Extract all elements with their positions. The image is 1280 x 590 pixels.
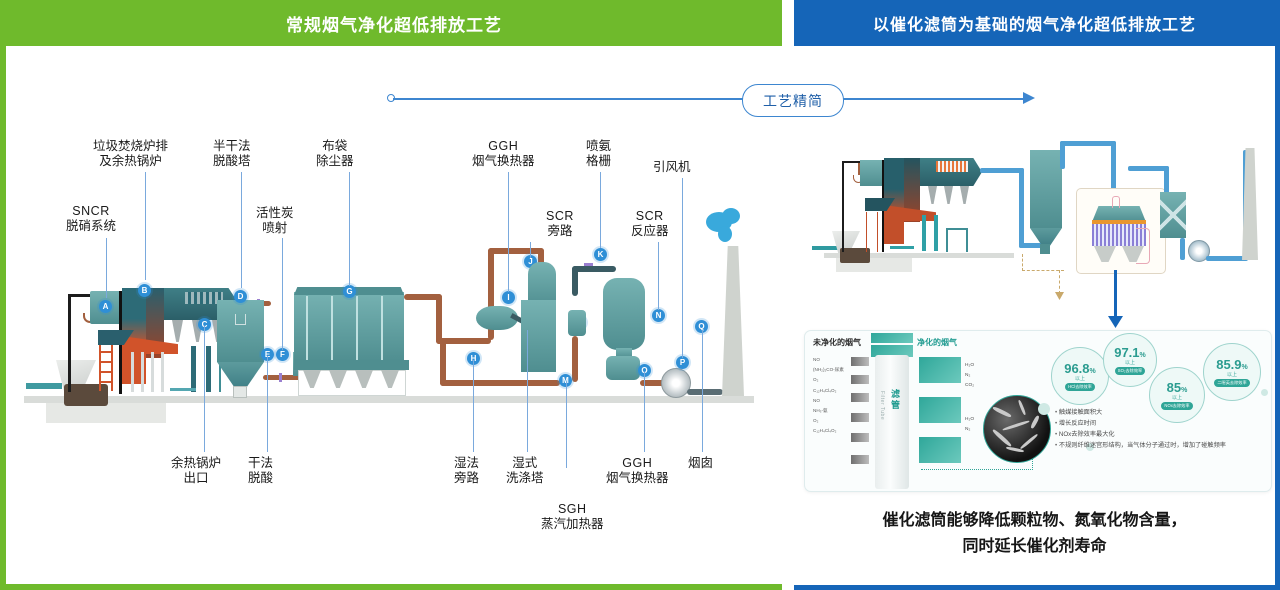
node-D[interactable]: D [234,290,247,303]
catalytic-filter-process-illustration [794,0,1280,590]
pulse-pipe-icon [1112,196,1120,208]
duct-wet-bypass [440,380,560,386]
stat-qualifier-2: 以上 [1125,359,1135,366]
duct-flange [279,373,282,382]
down-arrow-head-icon [1108,316,1123,328]
inlet-bar [851,357,869,366]
duct-to-tower-right [980,168,1024,173]
ladder-rung [99,361,113,363]
column-right [922,215,926,251]
ash-hopper-right [928,186,937,204]
node-G[interactable]: G [343,285,356,298]
leader-dry-deacid [267,356,268,452]
baghouse-plenum [294,360,409,370]
stat-tag-1: HCl去除效率 [1065,383,1095,391]
card-left-heading: 未净化的烟气 [813,337,861,348]
pit-base [46,403,166,423]
leader-sncr [106,238,107,298]
filter-tube-label-en: Filter Tube [879,391,885,420]
ash-discharge-dashed [1022,270,1064,271]
stat-circle-4: 85.9% 以上 二噁英去除效率 [1203,343,1261,401]
stat-qualifier-3: 以上 [1172,394,1182,401]
label-sgh: SGH 蒸汽加热器 [541,502,604,532]
outlet-block [919,437,961,463]
stat-value-4: 85.9% [1216,357,1248,372]
stat-circle-2: 97.1% 以上 SO₂去除效率 [1103,333,1157,387]
leader-incinerator [145,172,146,280]
ggh-top-run [488,248,544,254]
leader-semi-dry [241,172,242,288]
stat-tag-4: 二噁英去除效率 [1214,379,1249,387]
label-dry-deacid: 干法 脱酸 [248,456,273,486]
filter-outlet-top [1128,166,1169,171]
column-right [934,215,938,251]
column [206,346,211,392]
right-panel: 以催化滤筒为基础的烟气净化超低排放工艺 [794,0,1280,590]
label-stack: 烟囱 [688,456,713,471]
node-K[interactable]: K [594,248,607,261]
support [141,352,144,392]
node-A[interactable]: A [99,300,112,313]
stat-circle-1: 96.8% 以上 HCl去除效率 [1051,347,1109,405]
bag-divider [356,296,358,360]
bullet-item: NOx去除效率最大化 [1055,429,1265,440]
fan-outlet-duct [687,389,723,395]
stat-qualifier-1: 以上 [1075,375,1085,382]
leader-scr-reactor [658,242,659,310]
outlet-species-upper: H₂O N₂ CO₂ [965,361,974,391]
tower-outlet [233,386,247,398]
bag-divider [306,296,308,360]
ladder-rung [99,351,113,353]
platform-leg-right [946,228,948,252]
label-scr-reactor: SCR 反应器 [631,209,669,239]
label-wet-bypass: 湿法 旁路 [454,456,479,486]
ladder-rung [99,381,113,383]
ash-hopper-right [944,186,953,204]
stat-value-3: 85% [1167,380,1188,395]
catalytic-filter-info-card: 未净化的烟气 净化的烟气 Filter Tube 滤管 NO (NH₂)₂CO-… [804,330,1272,492]
stat-value-2: 97.1% [1114,345,1146,360]
crane-column [68,296,71,392]
label-semi-dry: 半干法 脱酸塔 [213,139,251,169]
platform-right [946,228,968,230]
stat-tag-2: SO₂去除效率 [1115,367,1145,375]
label-scr-bypass: SCR 旁路 [546,209,574,239]
inlet-bar [851,393,869,402]
leader-id-fan [682,178,683,358]
quench-outlet-right [1040,244,1050,254]
sgh-down [572,336,578,382]
label-wet-scrubber: 湿式 洗涤塔 [506,456,544,486]
feed-conveyor-right [812,246,838,250]
quench-tower-right [1030,150,1062,228]
node-I[interactable]: I [502,291,515,304]
deco-dot [1261,389,1268,396]
duct-riser [436,294,442,344]
column [191,346,196,392]
label-id-fan: 引风机 [653,160,691,175]
tube-cap-top [871,333,913,343]
inlet-species-list: NO (NH₂)₂CO-尿素 O₂ C₁₂H₄Cl₄O₂ NO NH₃-氨 O₂… [813,355,844,437]
ash-hopper-right [960,186,969,204]
label-carbon-inject: 活性炭 喷射 [256,206,294,236]
bag-divider [381,296,383,360]
bullet-item: 触媒接触面积大 [1055,407,1265,418]
inlet-bar [851,455,869,464]
duct-flange [584,263,593,266]
boiler-tubes-right [936,161,968,172]
label-ammonia-grid: 喷氨 格栅 [586,139,611,169]
tower-top-run-right [1060,141,1116,146]
platform-leg-right [966,228,968,252]
label-incinerator: 垃圾焚烧炉排 及余热锅炉 [93,139,168,169]
caption-line-2: 同时延长催化剂寿命 [794,534,1275,560]
label-ggh-1: GGH 烟气换热器 [472,139,535,169]
semi-dry-tower-body [217,300,264,362]
leader-carbon-inject [282,238,283,350]
semi-dry-tower-cone [217,362,264,388]
down-arrow-shaft [1114,270,1117,318]
outlet-block [919,397,961,423]
outlet-species-lower: H₂O N₂ [965,415,974,435]
leader-baghouse [349,172,350,286]
support [151,352,154,392]
stack [722,246,744,396]
leader-ggh-1 [508,172,509,292]
ash-discharge-down [1059,270,1060,294]
scr-inlet-top [572,266,616,272]
base-dash-right [890,246,914,249]
leader-ggh-2 [644,372,645,452]
support [131,352,134,392]
leader-wet-bypass [473,360,474,452]
recirc-pipe-icon [1136,228,1150,264]
ggh-down-right [1180,238,1185,260]
card-right-heading: 净化的烟气 [917,337,957,348]
deco-dot [1038,403,1050,415]
label-sncr: SNCR 脱硝系统 [66,204,116,234]
outlet-block [919,357,961,383]
leader-scr-bypass [530,242,531,258]
leader-ammonia-grid [600,172,601,248]
node-B[interactable]: B [138,284,151,297]
feed-conveyor [26,383,62,389]
bullet-item: 增长反应时间 [1055,418,1265,429]
node-N[interactable]: N [652,309,665,322]
plume-icon [722,208,740,224]
inlet-bar [851,375,869,384]
base-dash [170,388,196,391]
leader-stack [702,330,703,452]
boiler-drum-right [860,160,884,186]
duct-down-right [1019,168,1024,248]
ash-arrow-icon [1055,292,1064,300]
label-boiler-outlet: 余热锅炉 出口 [171,456,221,486]
ash-hopper [172,320,183,342]
caption-line-1: 催化滤筒能够降低颗粒物、氮氧化物含量， [794,508,1275,534]
bag-divider [331,296,333,360]
inlet-bar [851,433,869,442]
slide-root: 常规烟气净化超低排放工艺 A [0,0,1280,590]
spray-nozzle-icon [235,314,246,325]
micrograph-connector [921,469,1033,471]
support [161,352,164,392]
benefit-bullets: 触媒接触面积大 增长反应时间 NOx去除效率最大化 不规则纤维迷宫形结构，当气体… [1055,407,1265,451]
ash-discharge-up [1022,254,1023,271]
sgh-heater [568,310,586,336]
duct-down [440,338,446,386]
filter-tube-label-cn: 滤管 [889,389,902,411]
label-baghouse: 布袋 除尘器 [316,139,354,169]
label-ggh-2: GGH 烟气换热器 [606,456,669,486]
inlet-bar [851,413,869,422]
leader-boiler-outlet [204,326,205,452]
stat-value-1: 96.8% [1064,361,1096,376]
plume-icon [718,226,732,242]
ladder-right [866,212,878,252]
baghouse-body [294,292,404,362]
ladder-rung [99,371,113,373]
scr-outlet-box [606,356,640,380]
bullet-item: 不规则纤维迷宫形结构，当气体分子通过时，增加了碰触频率 [1055,440,1265,451]
stat-qualifier-4: 以上 [1227,371,1237,378]
scr-reactor [603,278,645,350]
fan-outlet-right [1206,256,1248,261]
right-panel-caption: 催化滤筒能够降低颗粒物、氮氧化物含量， 同时延长催化剂寿命 [794,508,1275,560]
ggh-cross-icon-right [1160,192,1186,238]
leader-sgh [566,382,567,468]
crane-column-right [842,162,844,252]
filter-tube [875,355,909,489]
leader-wet-scrubber [527,330,528,452]
